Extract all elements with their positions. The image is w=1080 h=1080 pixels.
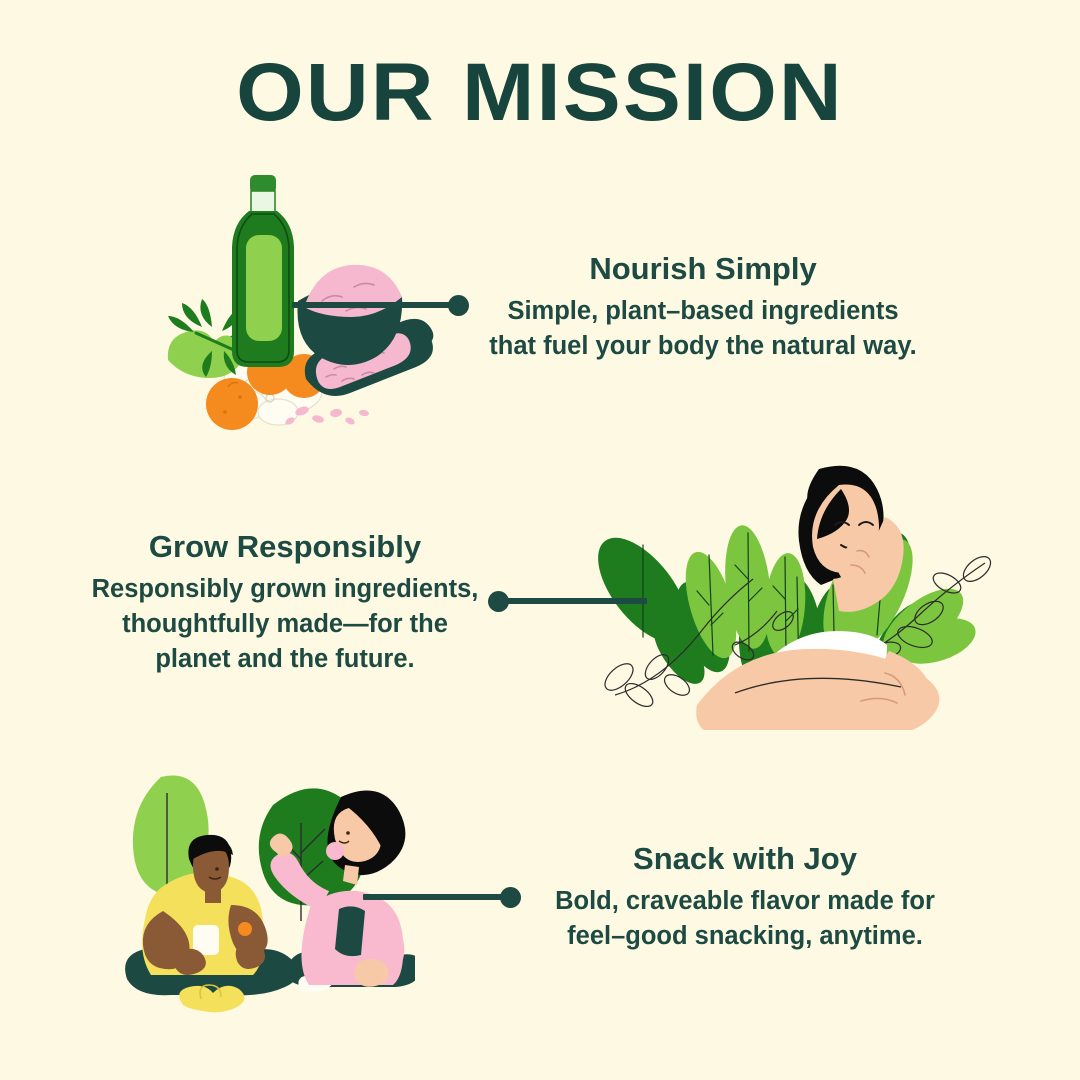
connector-line-grow bbox=[497, 598, 647, 604]
block-body-line: feel–good snacking, anytime. bbox=[520, 919, 970, 954]
connector-dot-snack bbox=[500, 887, 521, 908]
connector-line-nourish bbox=[292, 302, 460, 308]
connector-line-snack bbox=[363, 894, 513, 900]
block-body-line: planet and the future. bbox=[60, 642, 510, 677]
connector-dot-nourish bbox=[448, 295, 469, 316]
block-body-line: Bold, craveable flavor made for bbox=[520, 884, 970, 919]
olive-oil-and-food-illustration bbox=[150, 165, 460, 430]
block-body-line: Responsibly grown ingredients, bbox=[60, 572, 510, 607]
block-heading-snack: Snack with Joy bbox=[520, 840, 970, 878]
mission-block-grow: Grow Responsibly Responsibly grown ingre… bbox=[60, 528, 510, 677]
page-title: OUR MISSION bbox=[0, 52, 1080, 134]
block-body-line: Simple, plant–based ingredients bbox=[468, 294, 938, 329]
block-body-line: that fuel your body the natural way. bbox=[468, 329, 938, 364]
woman-with-leaves-illustration bbox=[585, 455, 1005, 730]
poster-canvas: OUR MISSION bbox=[0, 0, 1080, 1080]
mission-block-snack: Snack with Joy Bold, craveable flavor ma… bbox=[520, 840, 970, 954]
block-heading-grow: Grow Responsibly bbox=[60, 528, 510, 566]
block-body-snack: Bold, craveable flavor made for feel–goo… bbox=[520, 884, 970, 954]
block-body-line: thoughtfully made—for the bbox=[60, 607, 510, 642]
olive-oil-bottle bbox=[232, 175, 294, 367]
mission-block-nourish: Nourish Simply Simple, plant–based ingre… bbox=[468, 250, 938, 364]
block-body-grow: Responsibly grown ingredients, thoughtfu… bbox=[60, 572, 510, 678]
block-body-nourish: Simple, plant–based ingredients that fue… bbox=[468, 294, 938, 364]
block-heading-nourish: Nourish Simply bbox=[468, 250, 938, 288]
